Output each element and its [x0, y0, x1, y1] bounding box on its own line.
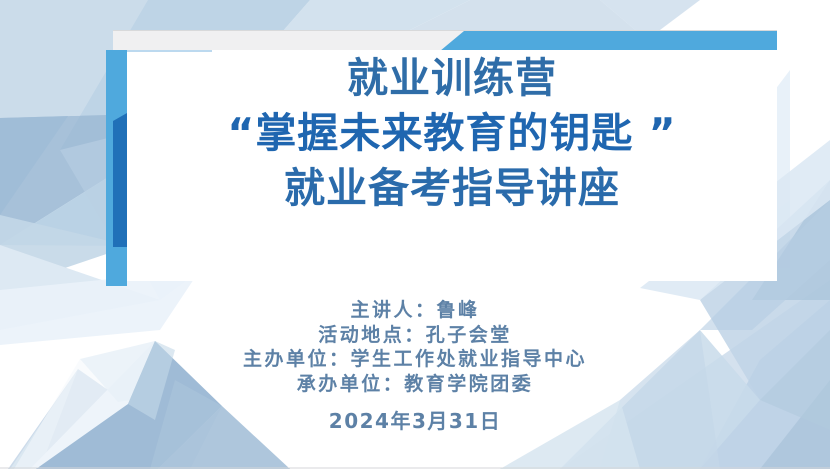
card-top-hairline: [113, 50, 212, 52]
title-line-2: “掌握未来教育的钥匙 ”: [127, 113, 777, 154]
top-blue-parallelogram: [440, 31, 777, 51]
info-line-venue: 活动地点：孔子会堂: [0, 323, 830, 348]
info-line-co-organizer: 承办单位：教育学院团委: [0, 372, 830, 397]
info-line-speaker: 主讲人：鲁峰: [0, 298, 830, 323]
info-line-organizer: 主办单位：学生工作处就业指导中心: [0, 347, 830, 372]
title-block: 就业训练营 “掌握未来教育的钥匙 ” 就业备考指导讲座: [127, 58, 777, 209]
event-info-block: 主讲人：鲁峰 活动地点：孔子会堂 主办单位：学生工作处就业指导中心 承办单位：教…: [0, 298, 830, 434]
event-date: 2024年3月31日: [0, 405, 830, 434]
title-line-1: 就业训练营: [127, 58, 777, 99]
title-line-3: 就业备考指导讲座: [127, 168, 777, 209]
presentation-slide: 就业训练营 “掌握未来教育的钥匙 ” 就业备考指导讲座 主讲人：鲁峰 活动地点：…: [0, 0, 830, 469]
left-accent-bar-inner-stripe: [113, 113, 127, 247]
